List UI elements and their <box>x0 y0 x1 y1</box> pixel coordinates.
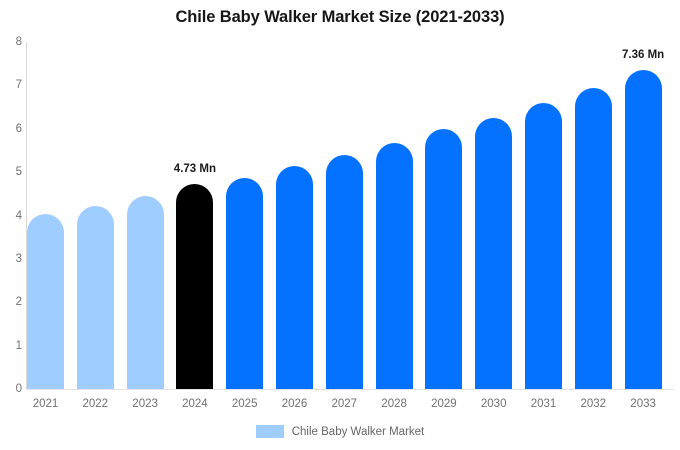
y-axis-tick-1: 1 <box>2 340 22 352</box>
x-axis-baseline <box>26 389 674 390</box>
y-axis-tick-3: 3 <box>2 253 22 265</box>
x-axis-tick-2033: 2033 <box>618 398 668 410</box>
x-axis-tick-2031: 2031 <box>519 398 569 410</box>
x-axis-tick-2026: 2026 <box>270 398 320 410</box>
x-axis-tick-2029: 2029 <box>419 398 469 410</box>
bar-2024[interactable] <box>176 184 213 389</box>
legend-label-chile-baby-walker-market: Chile Baby Walker Market <box>292 426 425 438</box>
bar-2032[interactable] <box>575 88 612 389</box>
plot-area <box>27 42 673 389</box>
bar-value-label-2024: 4.73 Mn <box>150 163 240 175</box>
chart-container: Chile Baby Walker Market Size (2021-2033… <box>0 0 680 450</box>
bar-value-label-2033: 7.36 Mn <box>598 49 680 61</box>
chart-legend: Chile Baby Walker Market <box>0 425 680 438</box>
x-axis-tick-2021: 2021 <box>21 398 71 410</box>
x-axis-tick-2023: 2023 <box>120 398 170 410</box>
y-axis-tick-6: 6 <box>2 123 22 135</box>
bar-2023[interactable] <box>127 196 164 389</box>
legend-swatch-chile-baby-walker-market <box>256 425 284 438</box>
x-axis-tick-2028: 2028 <box>369 398 419 410</box>
y-axis-tick-2: 2 <box>2 296 22 308</box>
bar-2030[interactable] <box>475 118 512 389</box>
x-axis-tick-2032: 2032 <box>568 398 618 410</box>
bar-2031[interactable] <box>525 103 562 389</box>
y-axis-tick-7: 7 <box>2 79 22 91</box>
y-axis-tick-0: 0 <box>2 383 22 395</box>
bar-2026[interactable] <box>276 166 313 389</box>
x-axis-tick-2027: 2027 <box>319 398 369 410</box>
x-axis-tick-2030: 2030 <box>469 398 519 410</box>
bar-2029[interactable] <box>425 129 462 389</box>
bar-2021[interactable] <box>27 214 64 389</box>
chart-title: Chile Baby Walker Market Size (2021-2033… <box>0 8 680 27</box>
x-axis-tick-2022: 2022 <box>70 398 120 410</box>
y-axis-tick-8: 8 <box>2 36 22 48</box>
x-axis-tick-2024: 2024 <box>170 398 220 410</box>
y-axis-tick-4: 4 <box>2 210 22 222</box>
bar-2028[interactable] <box>376 143 413 389</box>
bar-2027[interactable] <box>326 155 363 389</box>
bar-2033[interactable] <box>625 70 662 389</box>
y-axis: 012345678 <box>0 0 22 450</box>
x-axis-tick-2025: 2025 <box>220 398 270 410</box>
y-axis-tick-5: 5 <box>2 166 22 178</box>
bar-2025[interactable] <box>226 178 263 389</box>
bar-2022[interactable] <box>77 206 114 389</box>
